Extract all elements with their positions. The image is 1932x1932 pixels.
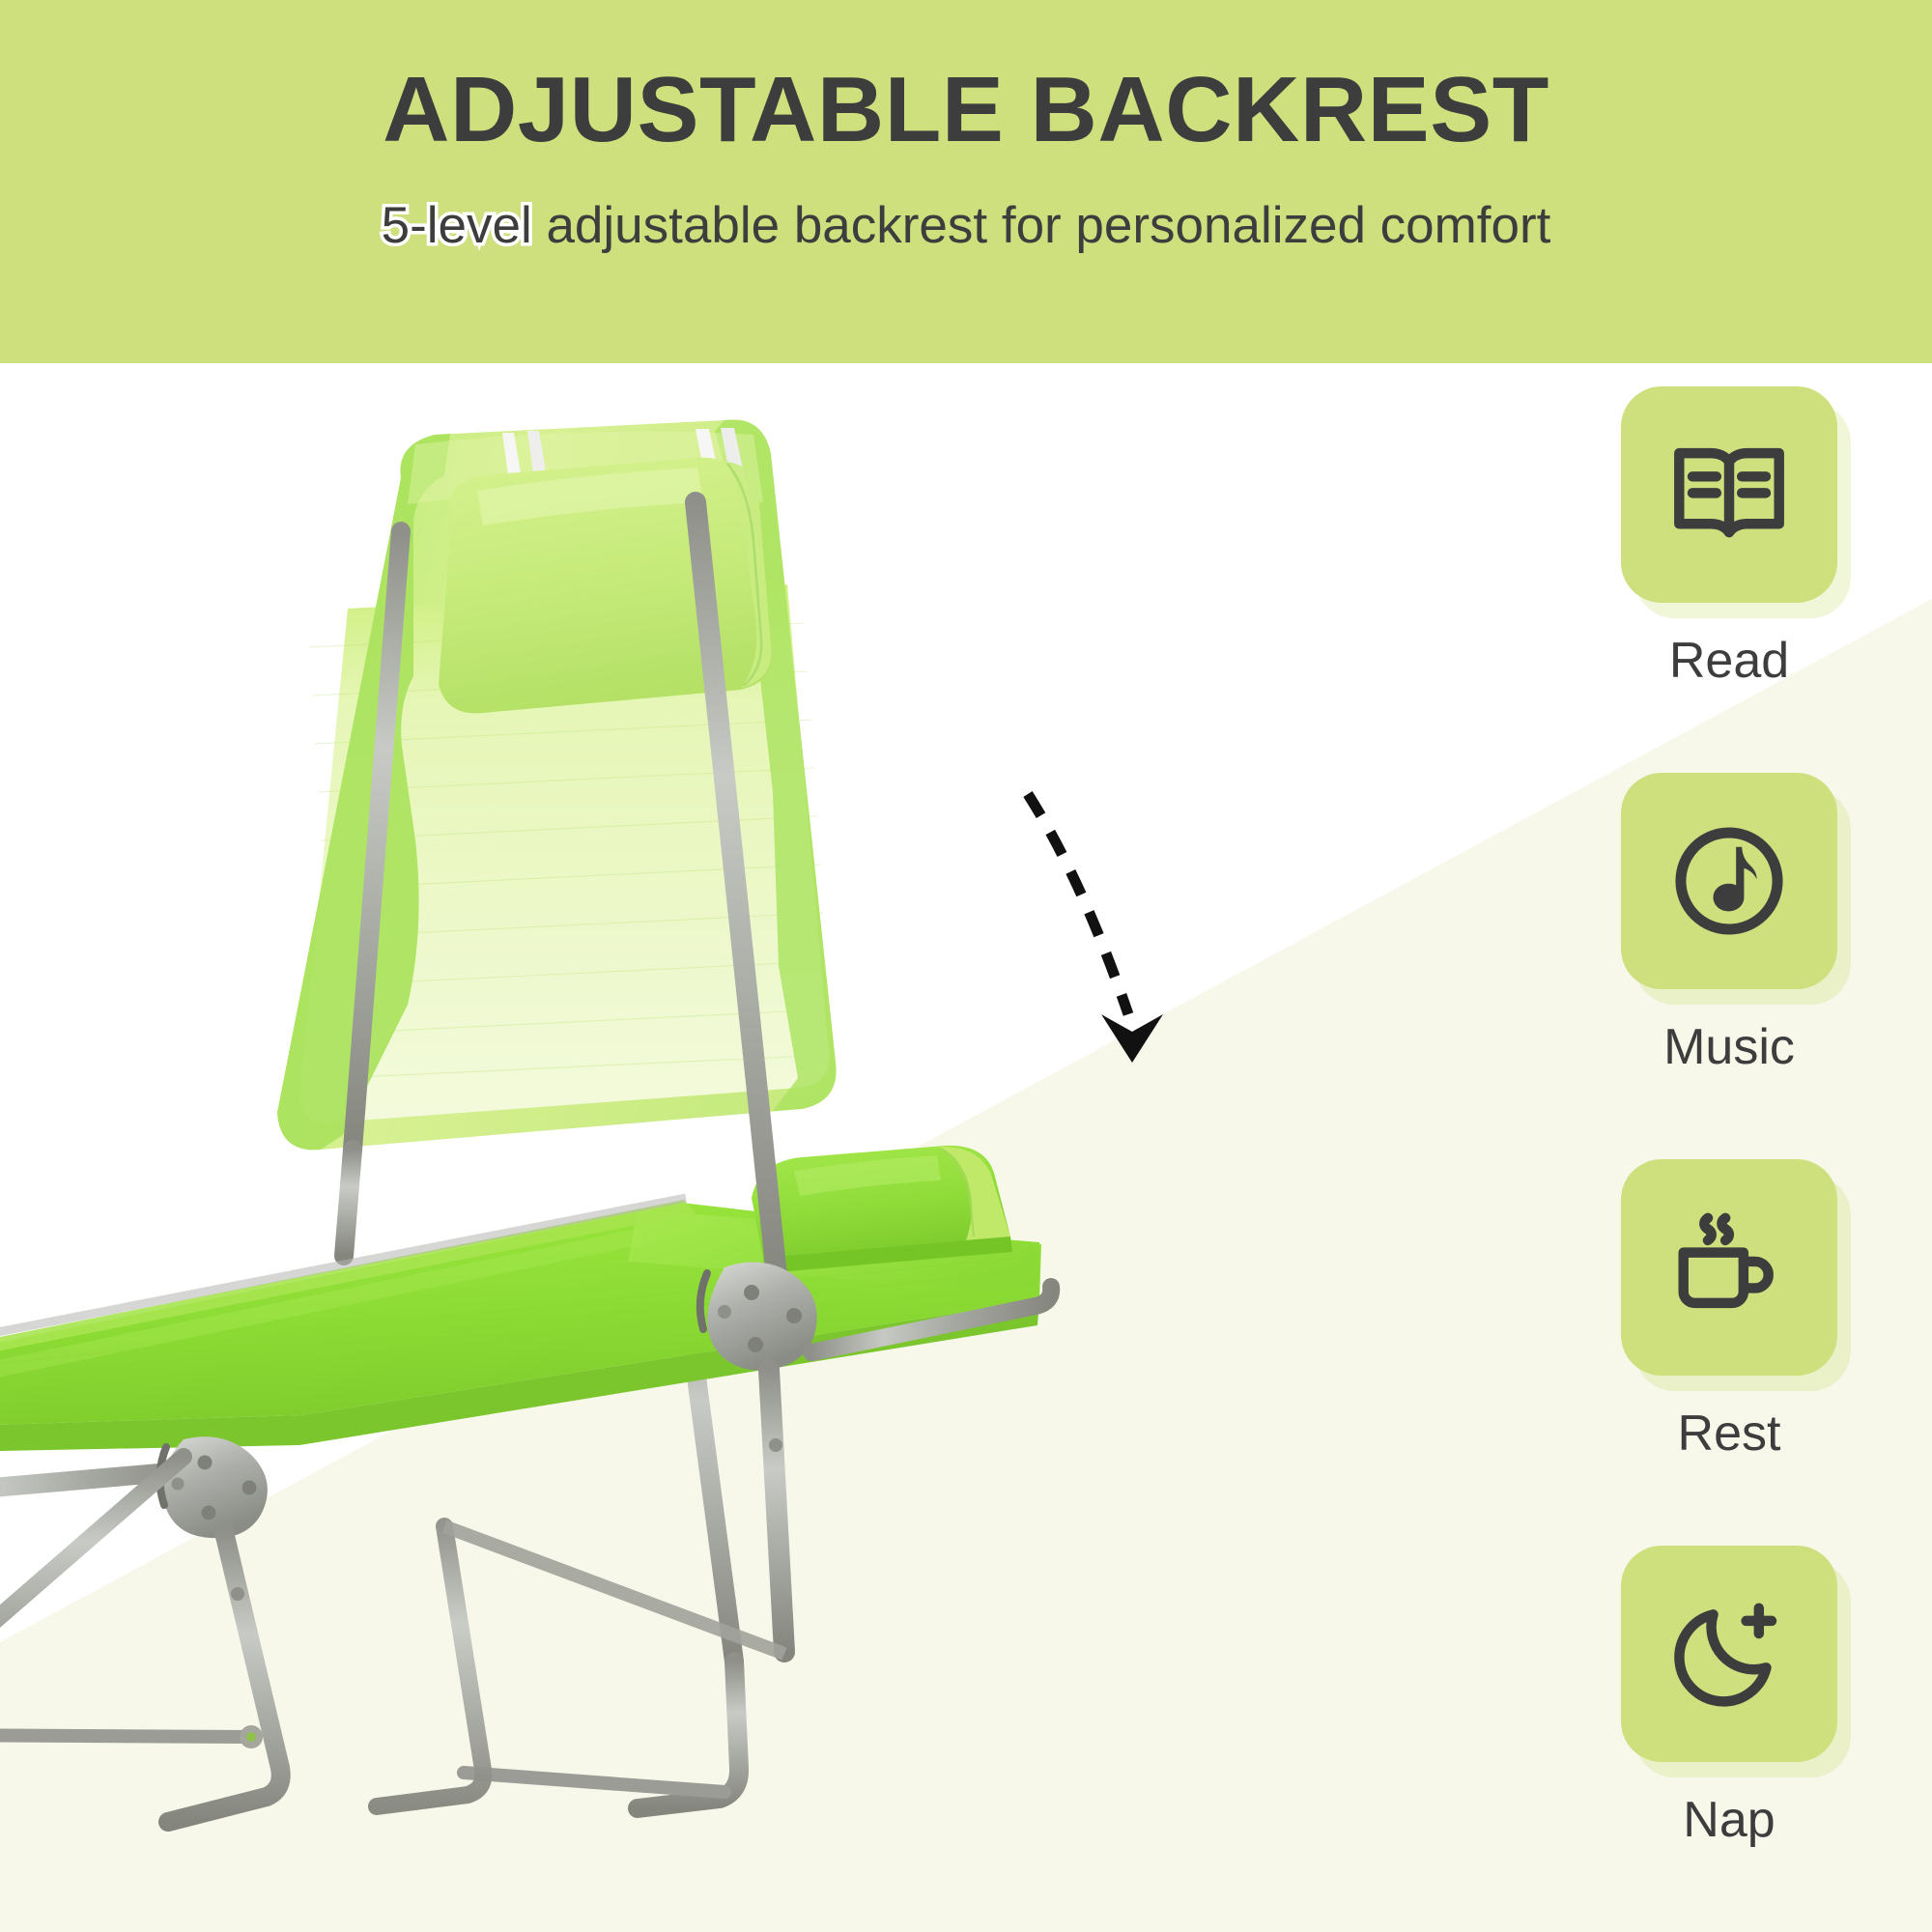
feature-item-read[interactable]: Read: [1526, 386, 1932, 773]
lumbar-pillow: [752, 1146, 1012, 1273]
crescent-moon-plus-icon: [1665, 1590, 1793, 1718]
subtitle-rest: adjustable backrest for personalized com…: [532, 197, 1551, 254]
open-book-icon: [1665, 431, 1793, 558]
music-note-circle-icon: [1665, 817, 1793, 945]
feature-label-rest: Rest: [1678, 1408, 1781, 1459]
feature-item-nap[interactable]: Nap: [1526, 1546, 1932, 1932]
feature-icon-box-nap[interactable]: [1621, 1546, 1837, 1762]
steaming-mug-icon: [1665, 1204, 1793, 1331]
feature-item-rest[interactable]: Rest: [1526, 1159, 1932, 1546]
feature-icon-box-rest[interactable]: [1621, 1159, 1837, 1376]
feature-list: Read Music Rest: [1526, 386, 1932, 1932]
feature-label-music: Music: [1663, 1022, 1795, 1072]
subtitle-highlight: 5-level: [382, 197, 532, 254]
feature-label-nap: Nap: [1683, 1795, 1775, 1845]
header-banner: ADJUSTABLE BACKREST 5-level adjustable b…: [0, 0, 1932, 363]
product-feature-canvas: ADJUSTABLE BACKREST 5-level adjustable b…: [0, 0, 1932, 1932]
rear-recline-hinge-assembly: [0, 1436, 281, 1822]
page-title: ADJUSTABLE BACKREST: [383, 60, 1549, 160]
page-subtitle: 5-level adjustable backrest for personal…: [382, 197, 1551, 256]
feature-label-read: Read: [1669, 636, 1789, 686]
feature-icon-box-music[interactable]: [1621, 773, 1837, 989]
feature-icon-box-read[interactable]: [1621, 386, 1837, 603]
feature-item-music[interactable]: Music: [1526, 773, 1932, 1159]
product-image: [0, 386, 1217, 1855]
